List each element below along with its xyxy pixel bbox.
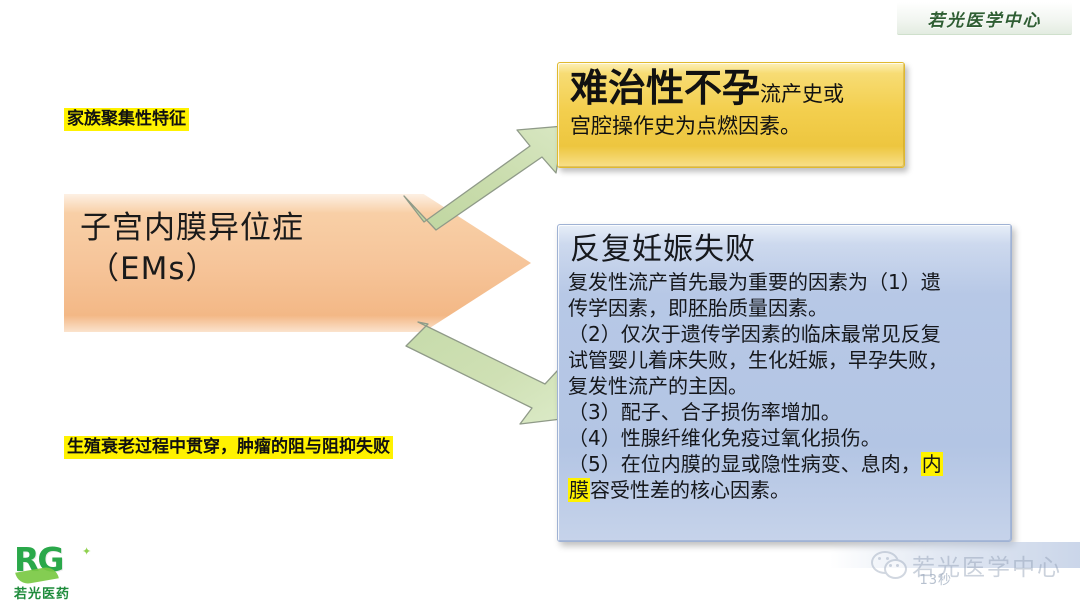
infertility-heading-tail: 流产史或 <box>760 82 844 106</box>
body-line-2: 传学因素，即胚胎质量因素。 <box>568 295 1003 321</box>
body-line-8-text: （5）在位内膜的显或隐性病变、息肉， <box>568 452 921 476</box>
body-line-6: （3）配子、合子损伤率增加。 <box>568 399 1003 425</box>
label-reproductive-aging: 生殖衰老过程中贯穿，肿瘤的阻与阻抑失败 <box>64 436 393 459</box>
wechat-watermark: 若光医学中心 <box>871 548 1062 582</box>
source-pentagon-label: 子宫内膜异位症 （EMs） <box>80 208 410 290</box>
slide-canvas: 若光医学中心 家族聚集性特征 生殖衰老过程中贯穿，肿瘤的阻与阻抑失败 子宫内膜异… <box>0 0 1080 608</box>
infertility-heading: 难治性不孕 <box>570 66 760 110</box>
pregnancy-failure-body: 复发性流产首先最为重要的因素为（1）遗 传学因素，即胚胎质量因素。 （2）仅次于… <box>568 269 1003 503</box>
infertility-callout-box: 难治性不孕流产史或 宫腔操作史为点燃因素。 <box>557 62 905 168</box>
infertility-detail-line: 宫腔操作史为点燃因素。 <box>570 113 894 139</box>
top-watermark: 若光医学中心 <box>897 2 1072 35</box>
source-line-2: （EMs） <box>80 249 410 290</box>
body-line-1: 复发性流产首先最为重要的因素为（1）遗 <box>568 269 1003 295</box>
logo-subtitle: 若光医药 <box>14 583 70 602</box>
pregnancy-failure-title: 反复妊娠失败 <box>570 233 1003 267</box>
video-duration-label: 13秒 <box>919 569 952 588</box>
body-line-5: 复发性流产的主因。 <box>568 373 1003 399</box>
highlight-endometrium-1: 内 <box>921 452 943 476</box>
body-line-3: （2）仅次于遗传学因素的临床最常见反复 <box>568 321 1003 347</box>
top-watermark-text: 若光医学中心 <box>928 6 1042 31</box>
sparkle-icon: ✦ <box>82 545 91 558</box>
body-line-8: （5）在位内膜的显或隐性病变、息肉，内 <box>568 451 1003 477</box>
wechat-icon <box>871 551 905 579</box>
body-line-4: 试管婴儿着床失败，生化妊娠，早孕失败， <box>568 347 1003 373</box>
source-line-1: 子宫内膜异位症 <box>80 210 304 246</box>
label-family-aggregation: 家族聚集性特征 <box>64 108 189 131</box>
company-logo: RG ✦ 若光医药 <box>14 543 110 599</box>
highlight-endometrium-2: 膜 <box>568 478 590 502</box>
body-line-9-text: 容受性差的核心因素。 <box>590 478 790 502</box>
body-line-9: 膜容受性差的核心因素。 <box>568 477 1003 503</box>
pregnancy-failure-callout-box: 反复妊娠失败 复发性流产首先最为重要的因素为（1）遗 传学因素，即胚胎质量因素。… <box>557 224 1012 542</box>
body-line-7: （4）性腺纤维化免疫过氧化损伤。 <box>568 425 1003 451</box>
infertility-heading-row: 难治性不孕流产史或 <box>570 69 894 109</box>
